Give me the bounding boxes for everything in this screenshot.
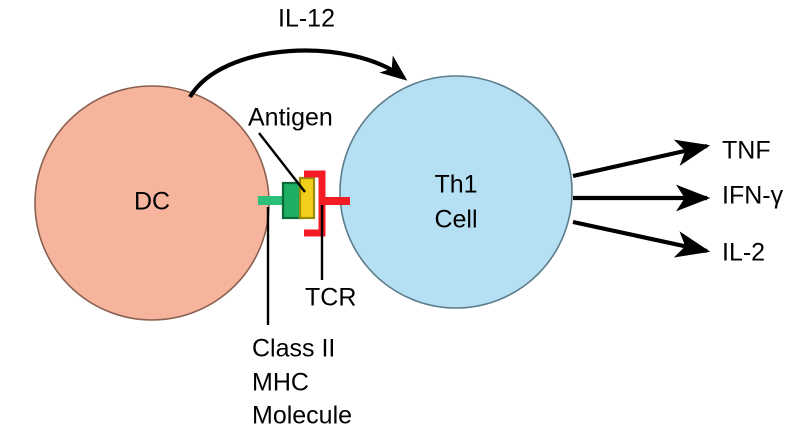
cell-th1-label-line2: Cell <box>434 206 477 234</box>
tnf-arrow <box>573 146 707 176</box>
immunology-diagram: DC Th1 Cell IL-12 Antigen TCR Class II M… <box>0 0 800 429</box>
il2-label: IL-2 <box>722 239 765 267</box>
mhc-label-line3: Molecule <box>252 402 352 429</box>
il2-arrow <box>573 222 707 251</box>
tcr-label: TCR <box>305 284 356 312</box>
tcr-stem <box>321 197 350 205</box>
il12-label: IL-12 <box>278 5 335 33</box>
diagram-canvas: DC Th1 Cell IL-12 Antigen TCR Class II M… <box>0 0 800 429</box>
cell-dc-label: DC <box>134 188 170 216</box>
ifng-label: IFN-γ <box>722 182 784 210</box>
antigen-box <box>300 178 314 218</box>
mhc-label-line2: MHC <box>252 369 309 397</box>
antigen-label: Antigen <box>248 104 333 132</box>
cell-th1-label-line1: Th1 <box>434 171 477 199</box>
mhc-label-line1: Class II <box>252 335 335 363</box>
tnf-label: TNF <box>722 137 771 165</box>
il12-arrow <box>190 51 404 97</box>
